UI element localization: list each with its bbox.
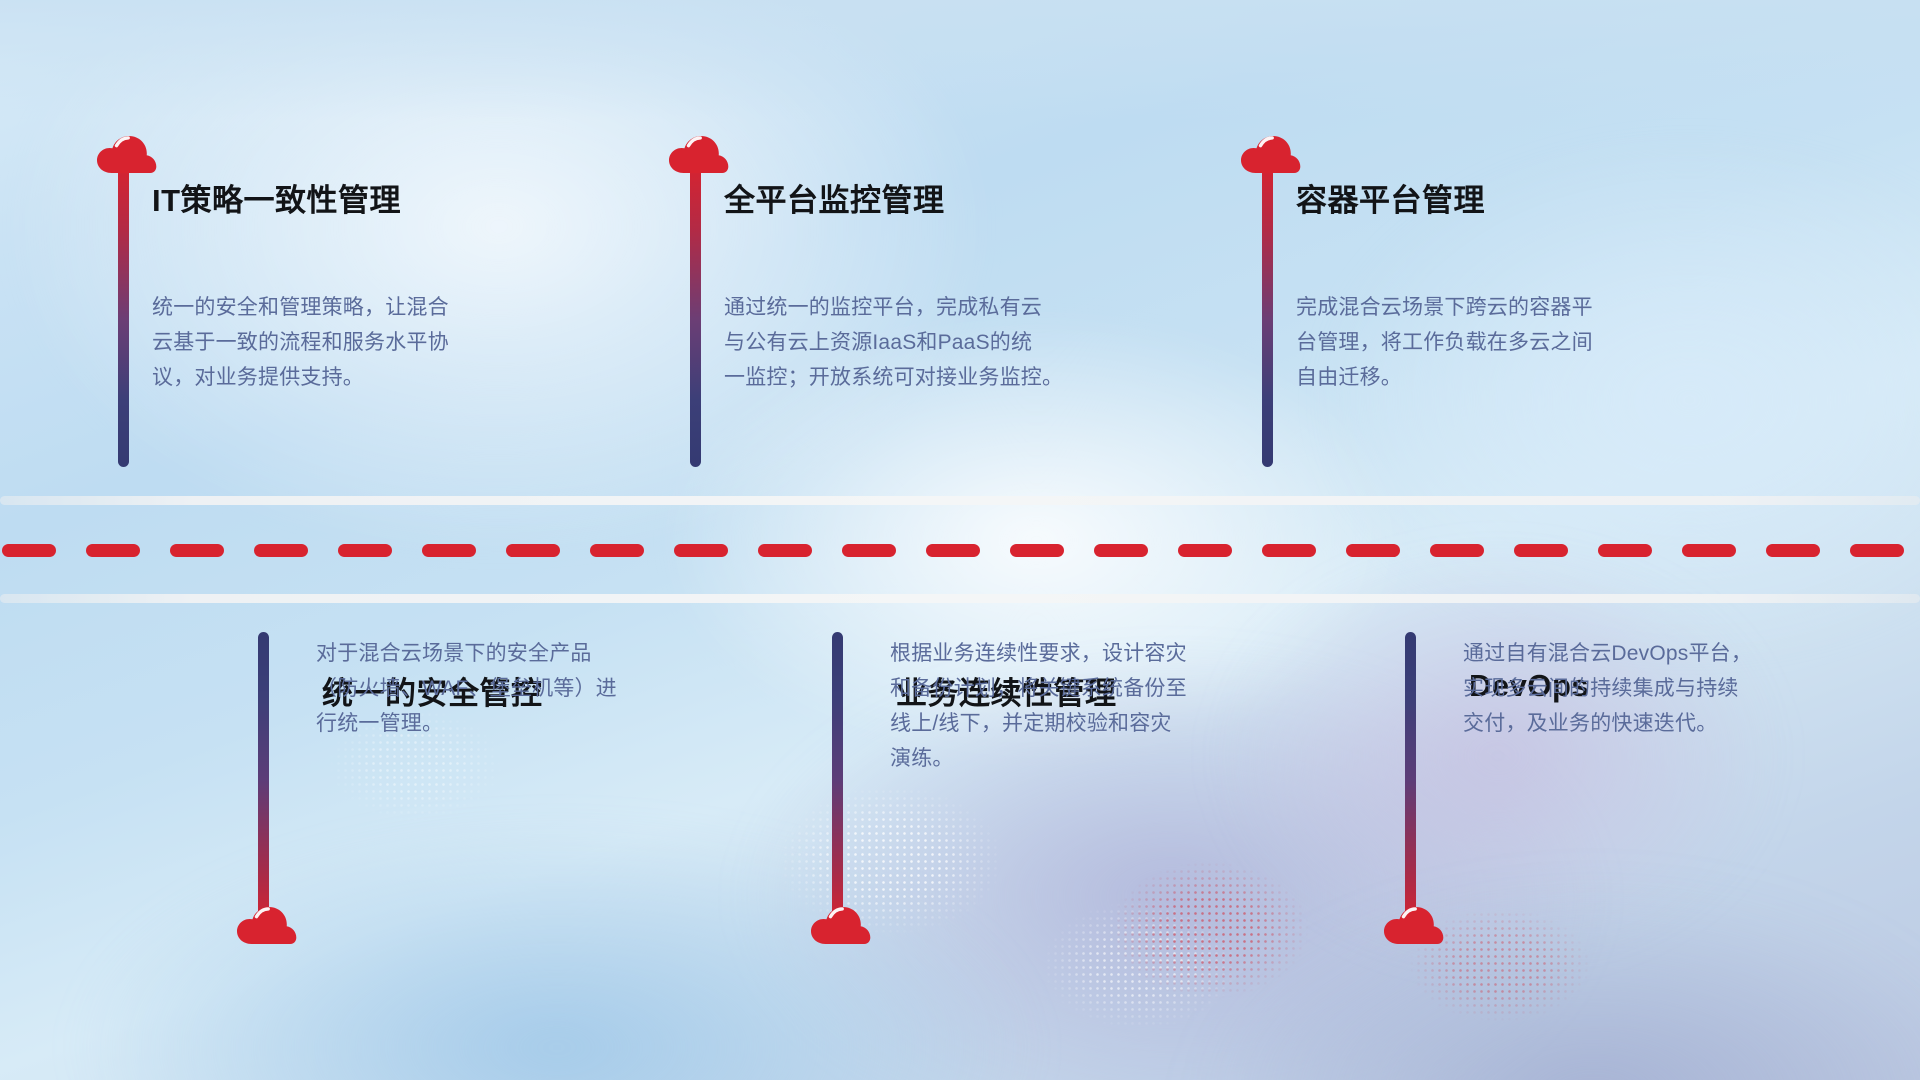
cloud-icon bbox=[1383, 903, 1445, 947]
connector-stem bbox=[258, 632, 269, 927]
dash-segment bbox=[170, 544, 224, 557]
connector-stem bbox=[1262, 162, 1273, 467]
cloud-icon bbox=[810, 903, 872, 947]
feature-title: 全平台监控管理 bbox=[724, 175, 945, 220]
dash-segment bbox=[338, 544, 392, 557]
divider-bar-lower bbox=[0, 594, 1920, 603]
description-line: 对于混合云场景下的安全产品 bbox=[316, 636, 736, 671]
connector-stem bbox=[832, 632, 843, 927]
cloud-icon bbox=[236, 903, 298, 947]
description-line: 自由迁移。 bbox=[1296, 360, 1716, 395]
dash-segment bbox=[926, 544, 980, 557]
dash-segment bbox=[1598, 544, 1652, 557]
description-line: 根据业务连续性要求，设计容灾 bbox=[890, 636, 1310, 671]
description-line: 线上/线下，并定期校验和容灾 bbox=[890, 706, 1310, 741]
dash-segment bbox=[1178, 544, 1232, 557]
dashed-divider bbox=[0, 543, 1920, 557]
description-line: 和备份计划，将关键系统备份至 bbox=[890, 671, 1310, 706]
dash-segment bbox=[1514, 544, 1568, 557]
dash-segment bbox=[506, 544, 560, 557]
dash-segment bbox=[1010, 544, 1064, 557]
feature-description: 通过统一的监控平台，完成私有云 与公有云上资源IaaS和PaaS的统 一监控；开… bbox=[724, 290, 1144, 395]
feature-title: IT策略一致性管理 bbox=[152, 175, 401, 220]
description-line: 与公有云上资源IaaS和PaaS的统 bbox=[724, 325, 1144, 360]
feature-description: 统一的安全和管理策略，让混合 云基于一致的流程和服务水平协 议，对业务提供支持。 bbox=[152, 290, 572, 395]
background-top-strip bbox=[0, 0, 1920, 120]
description-line: 实现多云间的持续集成与持续 bbox=[1463, 671, 1883, 706]
dash-segment bbox=[842, 544, 896, 557]
feature-description: 通过自有混合云DevOps平台， 实现多云间的持续集成与持续 交付，及业务的快速… bbox=[1463, 636, 1883, 741]
dash-segment bbox=[1094, 544, 1148, 557]
description-line: 演练。 bbox=[890, 741, 1310, 776]
description-line: 通过统一的监控平台，完成私有云 bbox=[724, 290, 1144, 325]
cloud-icon bbox=[668, 132, 730, 176]
dash-segment bbox=[1430, 544, 1484, 557]
description-line: 统一的安全和管理策略，让混合 bbox=[152, 290, 572, 325]
dash-segment bbox=[758, 544, 812, 557]
dash-segment bbox=[1850, 544, 1904, 557]
dash-segment bbox=[422, 544, 476, 557]
description-line: 通过自有混合云DevOps平台， bbox=[1463, 636, 1883, 671]
connector-stem bbox=[118, 162, 129, 467]
description-line: 台管理，将工作负载在多云之间 bbox=[1296, 325, 1716, 360]
connector-stem bbox=[690, 162, 701, 467]
dash-segment bbox=[1682, 544, 1736, 557]
description-line: 云基于一致的流程和服务水平协 bbox=[152, 325, 572, 360]
dash-segment bbox=[2, 544, 56, 557]
cloud-icon bbox=[1240, 132, 1302, 176]
description-line: 完成混合云场景下跨云的容器平 bbox=[1296, 290, 1716, 325]
description-line: 议，对业务提供支持。 bbox=[152, 360, 572, 395]
dash-segment bbox=[674, 544, 728, 557]
dash-segment bbox=[590, 544, 644, 557]
connector-stem bbox=[1405, 632, 1416, 927]
feature-title: 容器平台管理 bbox=[1296, 175, 1485, 220]
dash-segment bbox=[254, 544, 308, 557]
description-line: 交付，及业务的快速迭代。 bbox=[1463, 706, 1883, 741]
description-line: 行统一管理。 bbox=[316, 706, 736, 741]
feature-description: 完成混合云场景下跨云的容器平 台管理，将工作负载在多云之间 自由迁移。 bbox=[1296, 290, 1716, 395]
texture-dots-center bbox=[740, 760, 1040, 960]
cloud-icon bbox=[96, 132, 158, 176]
description-line: 一监控；开放系统可对接业务监控。 bbox=[724, 360, 1144, 395]
dash-segment bbox=[1262, 544, 1316, 557]
description-line: （防火墙、WAF、堡垒机等）进 bbox=[316, 671, 736, 706]
dash-segment bbox=[86, 544, 140, 557]
dash-segment bbox=[1346, 544, 1400, 557]
dash-segment bbox=[1766, 544, 1820, 557]
texture-dots-red-a bbox=[1080, 840, 1340, 1020]
divider-bar-upper bbox=[0, 496, 1920, 505]
infographic-canvas: IT策略一致性管理 统一的安全和管理策略，让混合 云基于一致的流程和服务水平协 … bbox=[0, 0, 1920, 1080]
feature-description: 对于混合云场景下的安全产品 （防火墙、WAF、堡垒机等）进 行统一管理。 bbox=[316, 636, 736, 741]
feature-description: 根据业务连续性要求，设计容灾 和备份计划，将关键系统备份至 线上/线下，并定期校… bbox=[890, 636, 1310, 776]
